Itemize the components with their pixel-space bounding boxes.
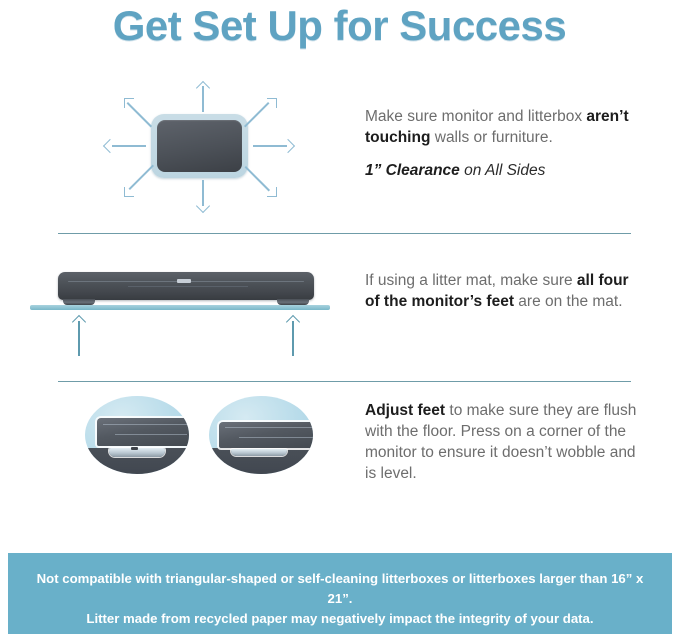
clearance-text-suffix: walls or furniture. — [430, 129, 552, 146]
clearance-emphasis-bold: 1” Clearance — [365, 162, 460, 179]
arrow-down-left-icon — [122, 164, 156, 200]
adjust-text-bold: Adjust feet — [365, 402, 445, 419]
closeup-oval-left — [85, 396, 189, 474]
section-clearance-text: Make sure monitor and litterbox aren’t t… — [365, 106, 645, 181]
divider-1 — [58, 233, 631, 234]
section-adjust-feet-text: Adjust feet to make sure they are flush … — [365, 400, 640, 484]
arrow-down-right-icon — [244, 164, 280, 200]
monitor-badge-icon — [177, 279, 191, 283]
monitor-corner-right-icon — [219, 422, 313, 448]
mat-text-suffix: are on the mat. — [514, 293, 623, 310]
arrow-down-icon — [197, 180, 209, 212]
mat-text-prefix: If using a litter mat, make sure — [365, 272, 577, 289]
infographic-page: Get Set Up for Success — [0, 0, 679, 634]
banner-line-1: Not compatible with triangular-shaped or… — [26, 569, 654, 609]
monitor-side-view-icon — [58, 272, 314, 300]
divider-2 — [58, 381, 631, 382]
closeup-oval-right — [209, 396, 313, 474]
arrow-right-icon — [253, 140, 297, 152]
arrow-up-left-foot-icon — [72, 316, 86, 356]
monitor-foot-pad-right-icon — [231, 449, 287, 456]
arrow-up-left-icon — [122, 96, 156, 130]
litter-mat-bar — [30, 305, 330, 310]
page-title: Get Set Up for Success — [0, 2, 679, 50]
arrow-up-icon — [197, 82, 209, 112]
section-litter-mat-text: If using a litter mat, make sure all fou… — [365, 270, 645, 312]
illustration-litter-mat — [30, 258, 330, 370]
clearance-emphasis-rest: on All Sides — [460, 162, 546, 179]
monitor-corner-left-icon — [97, 418, 189, 446]
banner-line-2: Litter made from recycled paper may nega… — [26, 609, 654, 629]
compatibility-banner: Not compatible with triangular-shaped or… — [8, 553, 672, 634]
clearance-emphasis: 1” Clearance on All Sides — [365, 160, 645, 181]
illustration-adjust-feet — [80, 392, 330, 484]
clearance-text-prefix: Make sure monitor and litterbox — [365, 108, 586, 125]
arrow-up-right-foot-icon — [286, 316, 300, 356]
monitor-top-view-icon — [151, 114, 248, 178]
illustration-clearance — [96, 78, 316, 223]
arrow-left-icon — [104, 140, 146, 152]
arrow-up-right-icon — [244, 96, 280, 130]
